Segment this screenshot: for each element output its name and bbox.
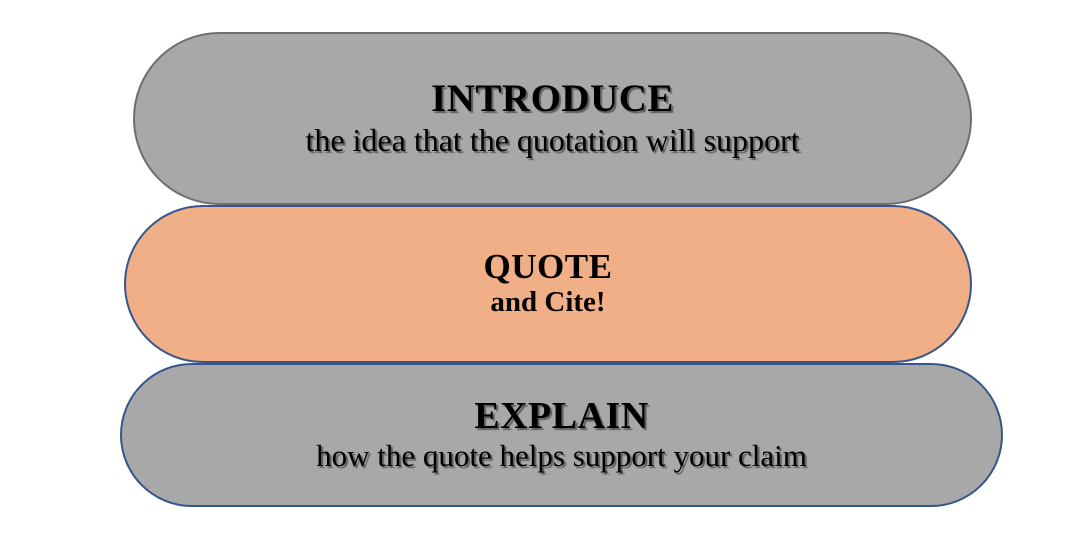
step-heading-introduce: INTRODUCE [431,79,674,120]
step-heading-quote: QUOTE [484,249,613,285]
step-subtext-explain: how the quote helps support your claim [316,439,807,473]
step-heading-explain: EXPLAIN [474,397,649,437]
step-shape-introduce: INTRODUCE the idea that the quotation wi… [133,32,972,205]
step-shape-quote: QUOTE and Cite! [124,205,972,363]
step-subtext-quote: and Cite! [490,287,605,319]
step-shape-explain: EXPLAIN how the quote helps support your… [120,363,1003,507]
diagram-canvas: INTRODUCE the idea that the quotation wi… [0,0,1084,556]
step-subtext-introduce: the idea that the quotation will support [305,123,799,158]
